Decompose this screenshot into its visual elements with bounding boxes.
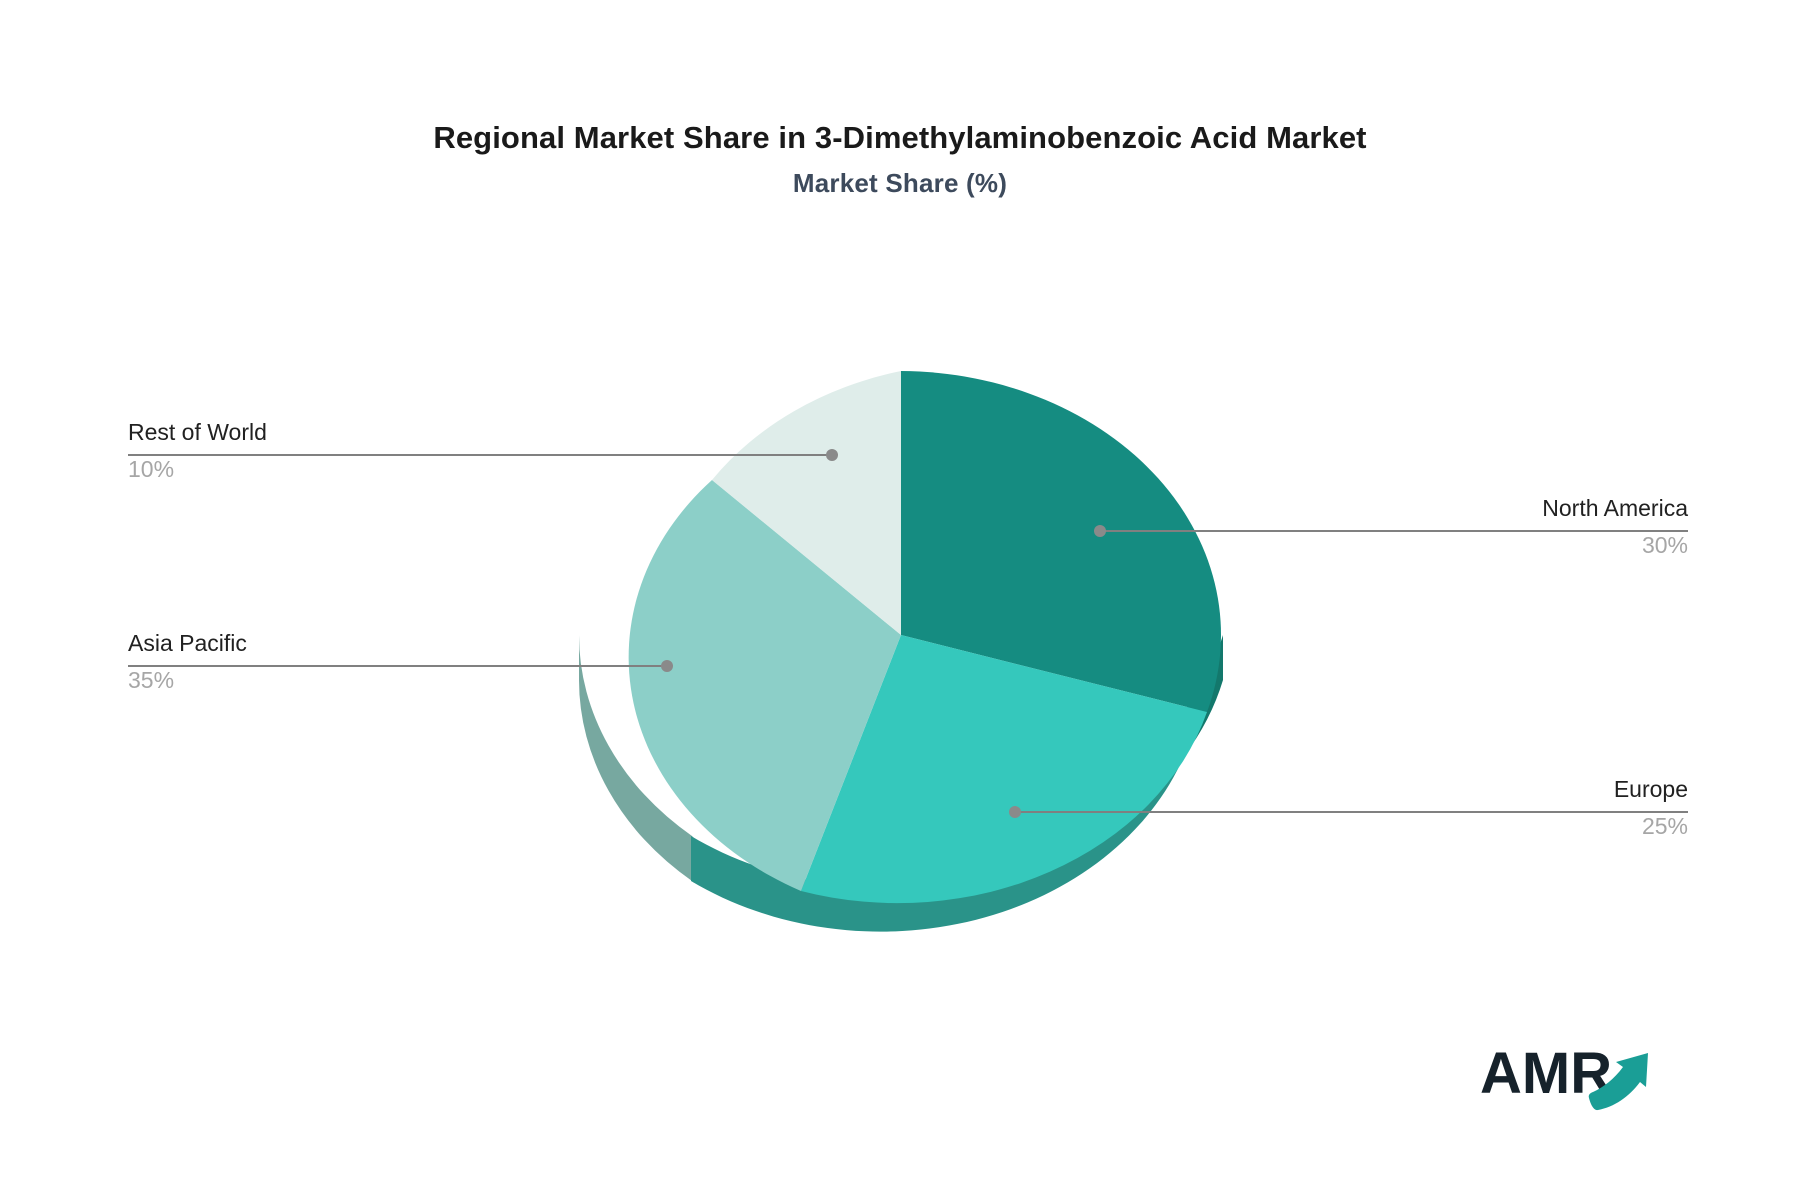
callout-rest-of-world: Rest of World 10% xyxy=(128,417,267,484)
callout-asia-pacific: Asia Pacific 35% xyxy=(128,628,247,695)
amr-logo: AMR xyxy=(1480,1035,1680,1125)
amr-logo-svg: AMR xyxy=(1480,1035,1680,1125)
callout-value-north-america: 30% xyxy=(1542,530,1688,560)
callout-value-europe: 25% xyxy=(1614,811,1688,841)
pie-graphic xyxy=(560,360,1260,980)
callout-label-europe: Europe xyxy=(1614,774,1688,804)
pie-chart-figure: Regional Market Share in 3-Dimethylamino… xyxy=(0,0,1800,1196)
callout-label-asia-pacific: Asia Pacific xyxy=(128,628,247,658)
callout-value-rest-of-world: 10% xyxy=(128,454,267,484)
callout-europe: Europe 25% xyxy=(1614,774,1688,841)
pie-svg xyxy=(560,360,1260,980)
callout-label-rest-of-world: Rest of World xyxy=(128,417,267,447)
callout-value-asia-pacific: 35% xyxy=(128,665,247,695)
chart-subtitle: Market Share (%) xyxy=(0,168,1800,199)
chart-title: Regional Market Share in 3-Dimethylamino… xyxy=(0,120,1800,156)
callout-north-america: North America 30% xyxy=(1542,493,1688,560)
callout-label-north-america: North America xyxy=(1542,493,1688,523)
